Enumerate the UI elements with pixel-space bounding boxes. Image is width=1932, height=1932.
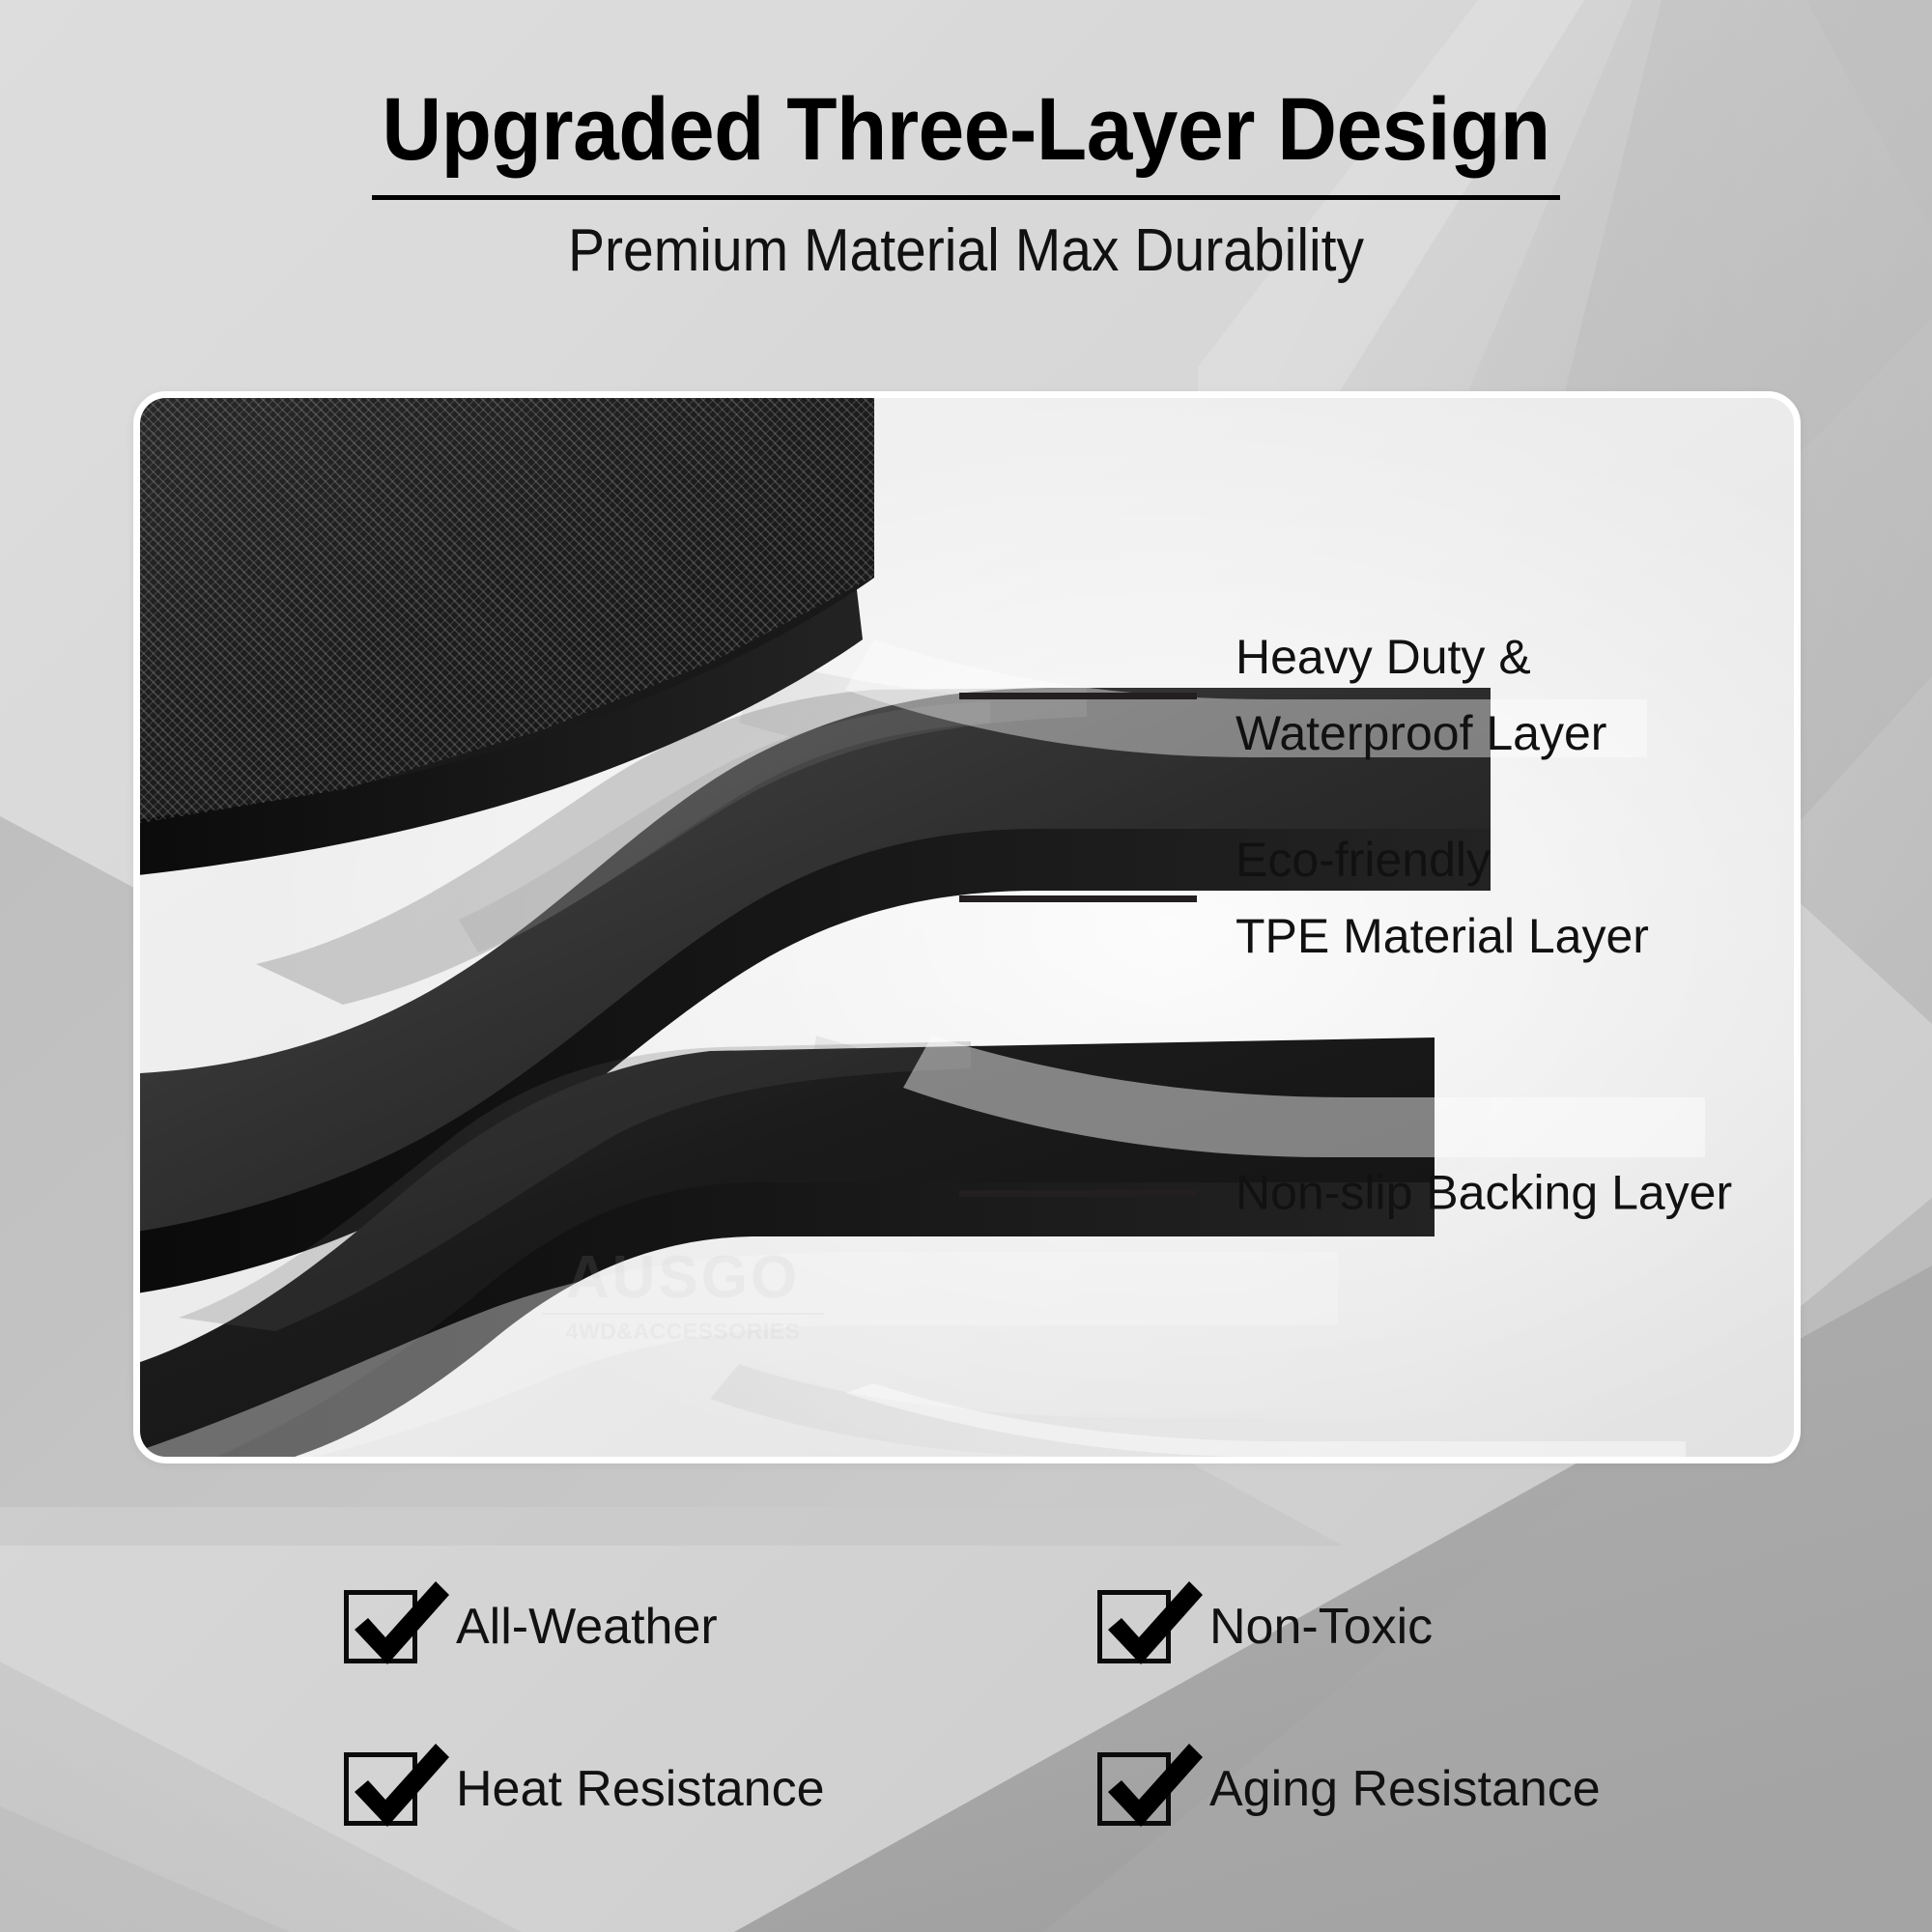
callout-line-1: Heavy Duty & xyxy=(1236,619,1606,696)
feature-item-heat-resistance[interactable]: Heat Resistance xyxy=(344,1708,1097,1870)
checkbox-heat-resistance[interactable] xyxy=(344,1752,417,1826)
checkmark-icon xyxy=(341,1570,457,1686)
page-title: Upgraded Three-Layer Design xyxy=(68,85,1864,174)
feature-item-non-toxic[interactable]: Non-Toxic xyxy=(1097,1546,1696,1708)
callout-text: Heavy Duty & Waterproof Layer xyxy=(1236,619,1606,772)
callout-line-2: Waterproof Layer xyxy=(1236,696,1606,772)
leader-line xyxy=(959,693,1197,699)
feature-item-all-weather[interactable]: All-Weather xyxy=(344,1546,1097,1708)
checkbox-all-weather[interactable] xyxy=(344,1590,417,1663)
callout-non-slip-backing: Non-slip Backing Layer xyxy=(959,1135,1829,1251)
feature-label: Non-Toxic xyxy=(1209,1602,1433,1652)
callout-text: Non-slip Backing Layer xyxy=(1236,1155,1732,1232)
checkbox-aging-resistance[interactable] xyxy=(1097,1752,1171,1826)
title-divider xyxy=(372,195,1560,200)
checkmark-icon xyxy=(1094,1732,1210,1848)
callout-text: Eco-friendly TPE Material Layer xyxy=(1236,822,1649,975)
feature-label: Heat Resistance xyxy=(456,1764,825,1814)
leader-line xyxy=(959,1190,1197,1197)
callout-line-1: Non-slip Backing Layer xyxy=(1236,1155,1732,1232)
callout-eco-friendly-tpe: Eco-friendly TPE Material Layer xyxy=(959,782,1829,1014)
callout-line-2: TPE Material Layer xyxy=(1236,898,1649,975)
checkbox-non-toxic[interactable] xyxy=(1097,1590,1171,1663)
checkmark-icon xyxy=(341,1732,457,1848)
feature-label: All-Weather xyxy=(456,1602,718,1652)
feature-item-aging-resistance[interactable]: Aging Resistance xyxy=(1097,1708,1696,1870)
leader-line xyxy=(959,895,1197,902)
page-subtitle: Premium Material Max Durability xyxy=(77,219,1855,282)
callout-line-1: Eco-friendly xyxy=(1236,822,1649,898)
callout-heavy-duty-waterproof: Heavy Duty & Waterproof Layer xyxy=(959,580,1829,811)
feature-label: Aging Resistance xyxy=(1209,1764,1601,1814)
header: Upgraded Three-Layer Design Premium Mate… xyxy=(0,0,1932,282)
feature-checklist: All-Weather Non-Toxic Heat Resistance xyxy=(344,1546,1696,1870)
infographic-stage: Upgraded Three-Layer Design Premium Mate… xyxy=(0,0,1932,1932)
checkmark-icon xyxy=(1094,1570,1210,1686)
